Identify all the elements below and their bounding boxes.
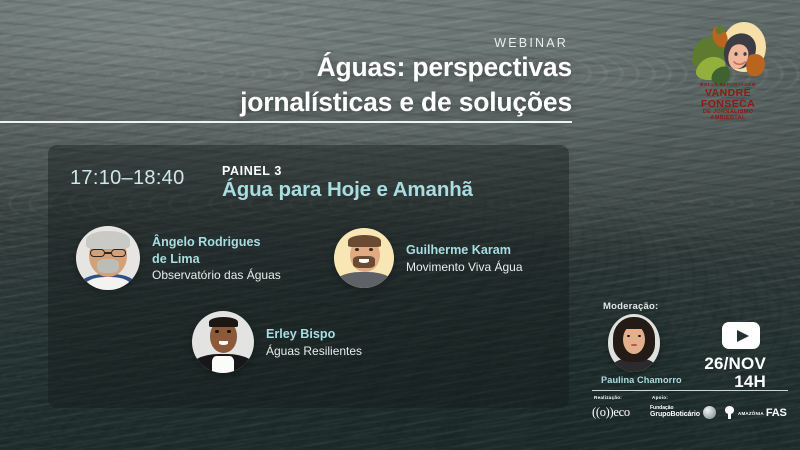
avatar-photo — [608, 314, 660, 372]
fas-logo-sub: AMAZÔNIA — [738, 411, 764, 416]
vandre-fonseca-logo-text: BOLSA REPORTAGEM VANDRÉ FONSECA DE JORNA… — [676, 83, 780, 121]
moderation-label: Moderação: — [603, 301, 658, 312]
speaker-meta: Guilherme Karam Movimento Viva Água — [406, 242, 523, 274]
realizacao-group: Realização: — [594, 395, 622, 400]
avatar — [334, 228, 394, 288]
speaker-meta: Erley Bispo Águas Resilientes — [266, 326, 362, 358]
broadcast-hour: 14H — [704, 373, 766, 391]
apoio-label: Apoio: — [652, 395, 668, 400]
realizacao-label: Realização: — [594, 395, 622, 400]
speaker-card: Guilherme Karam Movimento Viva Água — [334, 228, 523, 288]
broadcast-date: 26/NOV — [704, 355, 766, 373]
brand-line-2: VANDRÉ — [676, 88, 780, 99]
fas-logo-text: FAS — [766, 407, 787, 419]
avatar-photo — [192, 311, 254, 373]
webinar-kicker: WEBINAR — [494, 36, 568, 50]
avatar-photo — [334, 228, 394, 288]
apoio-group: Apoio: — [652, 395, 668, 400]
vandre-fonseca-logo: BOLSA REPORTAGEM VANDRÉ FONSECA DE JORNA… — [676, 21, 786, 129]
oeco-logo: ((o))eco — [592, 405, 630, 420]
speaker-name: Ângelo Rodrigues de Lima — [152, 234, 281, 267]
poster-canvas: WEBINAR Águas: perspectivas jornalística… — [0, 0, 800, 450]
panel-number-label: PAINEL 3 — [222, 164, 282, 178]
speaker-name: Guilherme Karam — [406, 242, 523, 259]
broadcast-datetime: 26/NOV 14H — [704, 355, 766, 392]
speaker-card: Erley Bispo Águas Resilientes — [192, 311, 362, 373]
brand-line-3: FONSECA — [676, 99, 780, 110]
page-title-line-1: Águas: perspectivas — [240, 50, 572, 85]
speaker-org: Águas Resilientes — [266, 344, 362, 358]
speaker-name: Erley Bispo — [266, 326, 362, 343]
moderator-name: Paulina Chamorro — [601, 375, 682, 385]
grupo-boticario-logo-line-2: GrupoBoticário — [650, 411, 700, 418]
session-time: 17:10–18:40 — [70, 167, 185, 190]
credits-divider — [592, 390, 788, 391]
youtube-play-icon[interactable] — [722, 322, 760, 349]
brand-line-5: AMBIENTAL — [676, 116, 780, 122]
page-title-line-2: jornalísticas e de soluções — [240, 85, 572, 120]
speaker-meta: Ângelo Rodrigues de Lima Observatório da… — [152, 234, 281, 282]
speaker-org: Movimento Viva Água — [406, 260, 523, 274]
avatar — [76, 226, 140, 290]
page-title: Águas: perspectivas jornalísticas e de s… — [240, 50, 572, 120]
fas-logo: AMAZÔNIA FAS — [723, 406, 787, 420]
header-divider — [0, 121, 572, 123]
grupo-boticario-logo: Fundação GrupoBoticário — [650, 406, 700, 419]
speaker-org: Observatório das Águas — [152, 268, 281, 282]
panel-title: Água para Hoje e Amanhã — [222, 178, 473, 202]
tree-icon — [723, 406, 736, 420]
moderator-avatar — [608, 314, 660, 372]
speaker-card: Ângelo Rodrigues de Lima Observatório da… — [76, 226, 281, 290]
grupo-boticario-sphere-icon — [703, 406, 716, 419]
avatar-photo — [76, 226, 140, 290]
avatar — [192, 311, 254, 373]
